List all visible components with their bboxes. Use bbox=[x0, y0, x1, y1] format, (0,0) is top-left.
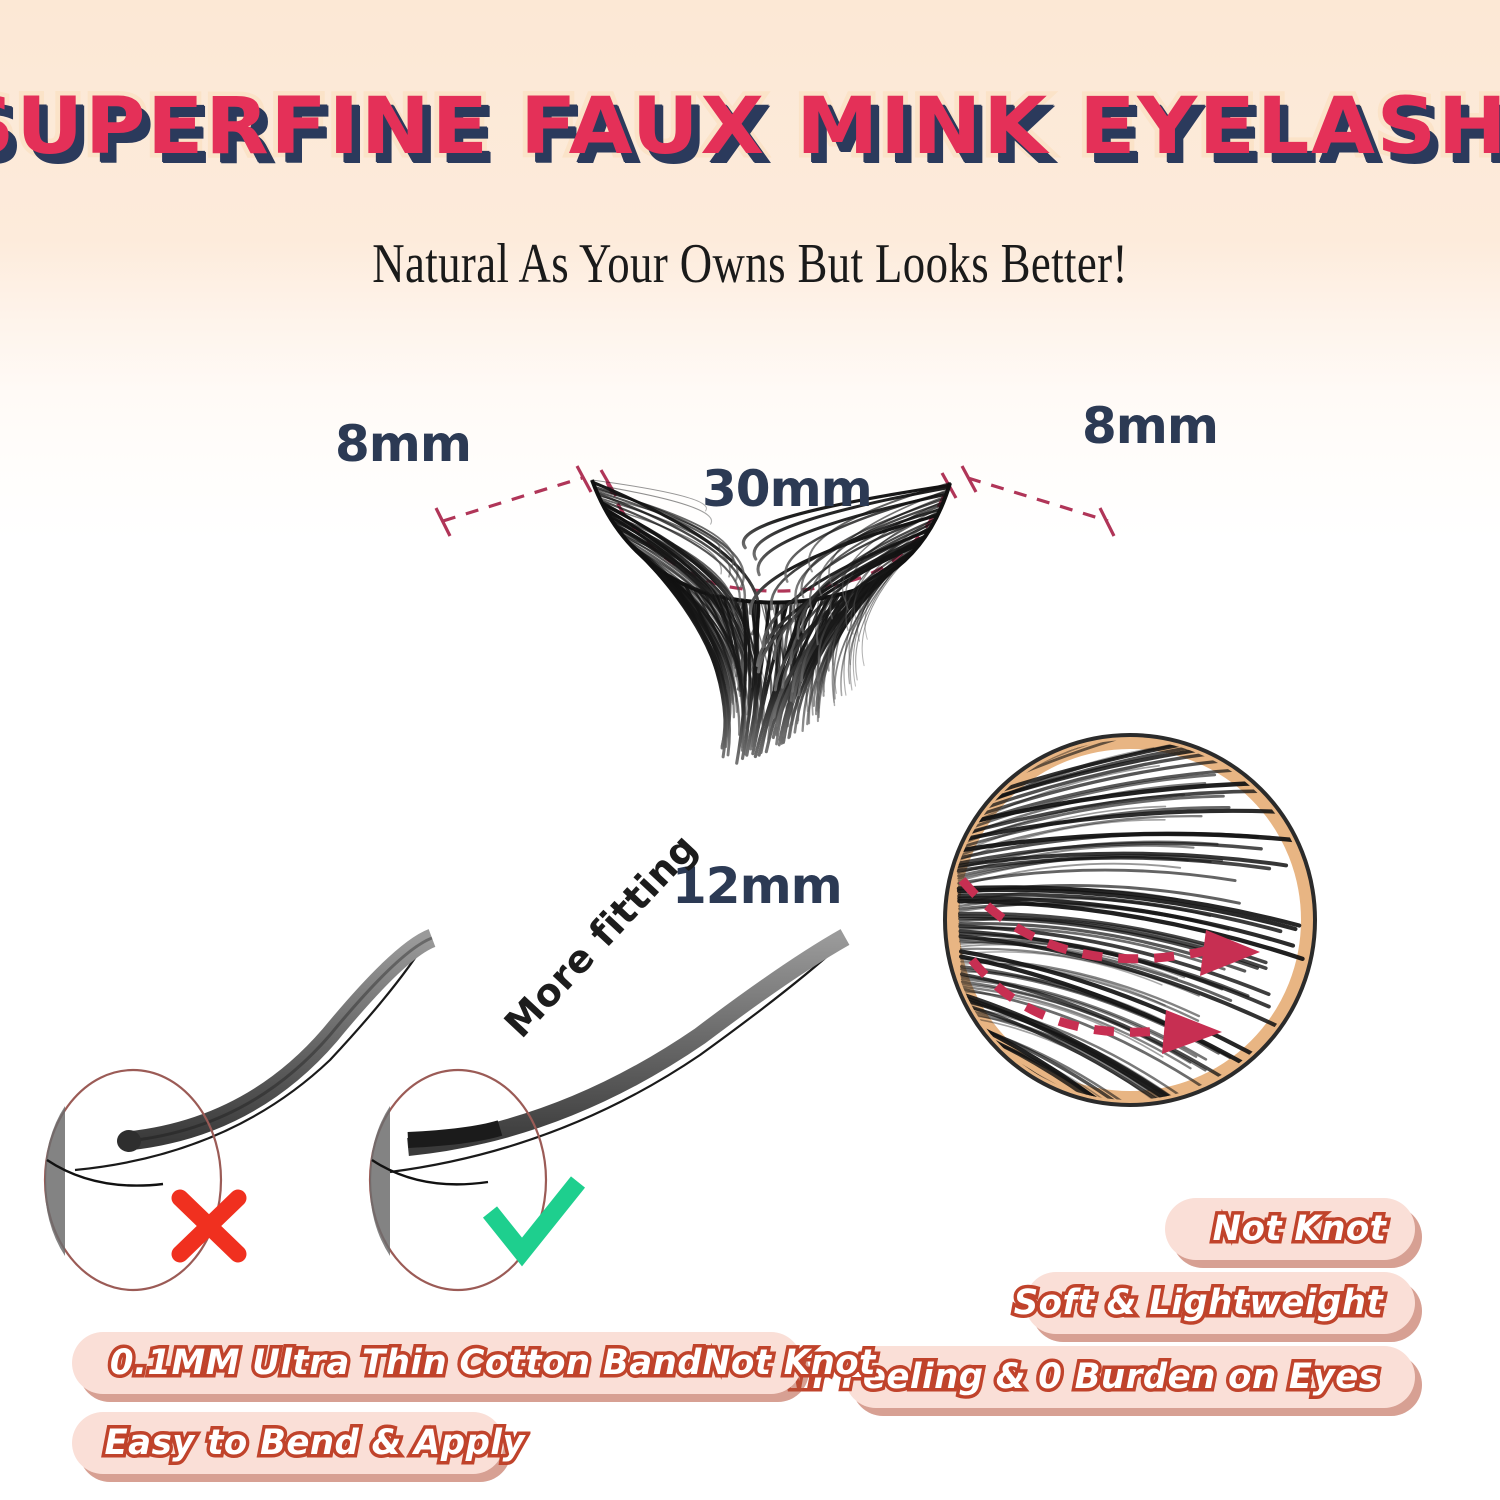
dimension-label-bottom: 12mm bbox=[672, 857, 842, 915]
feature-badge-easy-bend: Easy to Bend & Apply bbox=[72, 1412, 504, 1474]
feature-badge-label: Soft & Lightweight bbox=[1014, 1283, 1383, 1323]
feature-badge-cotton-band: 0.1MM Ultra Thin Cotton BandNot Knot bbox=[72, 1332, 802, 1394]
header-banner: SUPERFINE FAUX MINK EYELASHES Natural As… bbox=[0, 0, 1500, 340]
check-icon bbox=[490, 1182, 578, 1252]
dimension-label-left: 8mm bbox=[335, 415, 471, 473]
feature-badge-label: Easy to Bend & Apply bbox=[105, 1423, 526, 1463]
band-comparison-good bbox=[370, 937, 845, 1290]
page-title: SUPERFINE FAUX MINK EYELASHES bbox=[0, 88, 1500, 166]
band-comparison-bad bbox=[45, 935, 432, 1290]
feature-badge-label: 0.1MM Ultra Thin Cotton BandNot Knot bbox=[110, 1343, 876, 1383]
curl-arrow-head-icon bbox=[1162, 1010, 1222, 1054]
page-subtitle: Natural As Your Owns But Looks Better! bbox=[150, 232, 1350, 296]
dimension-label-right: 8mm bbox=[1082, 397, 1218, 455]
feature-badge-label: Not Knot bbox=[1213, 1209, 1387, 1249]
feature-badge-air-feeling: Air Feeling & 0 Burden on Eyes bbox=[845, 1346, 1415, 1408]
lash-fibers bbox=[592, 480, 950, 763]
feature-badge-not-knot: Not Knot bbox=[1165, 1198, 1415, 1260]
curl-arrow-icon bbox=[962, 880, 1210, 1032]
dimension-label-center: 30mm bbox=[702, 460, 872, 518]
curl-arrow-head-icon bbox=[1200, 930, 1260, 976]
product-infographic: SUPERFINE FAUX MINK EYELASHES Natural As… bbox=[0, 0, 1500, 1500]
feature-badge-soft-lightweight: Soft & Lightweight bbox=[1025, 1272, 1415, 1334]
more-fitting-label: More fitting bbox=[496, 825, 706, 1046]
cross-icon bbox=[180, 1198, 238, 1254]
lash-curl-magnifier bbox=[946, 663, 1314, 1274]
